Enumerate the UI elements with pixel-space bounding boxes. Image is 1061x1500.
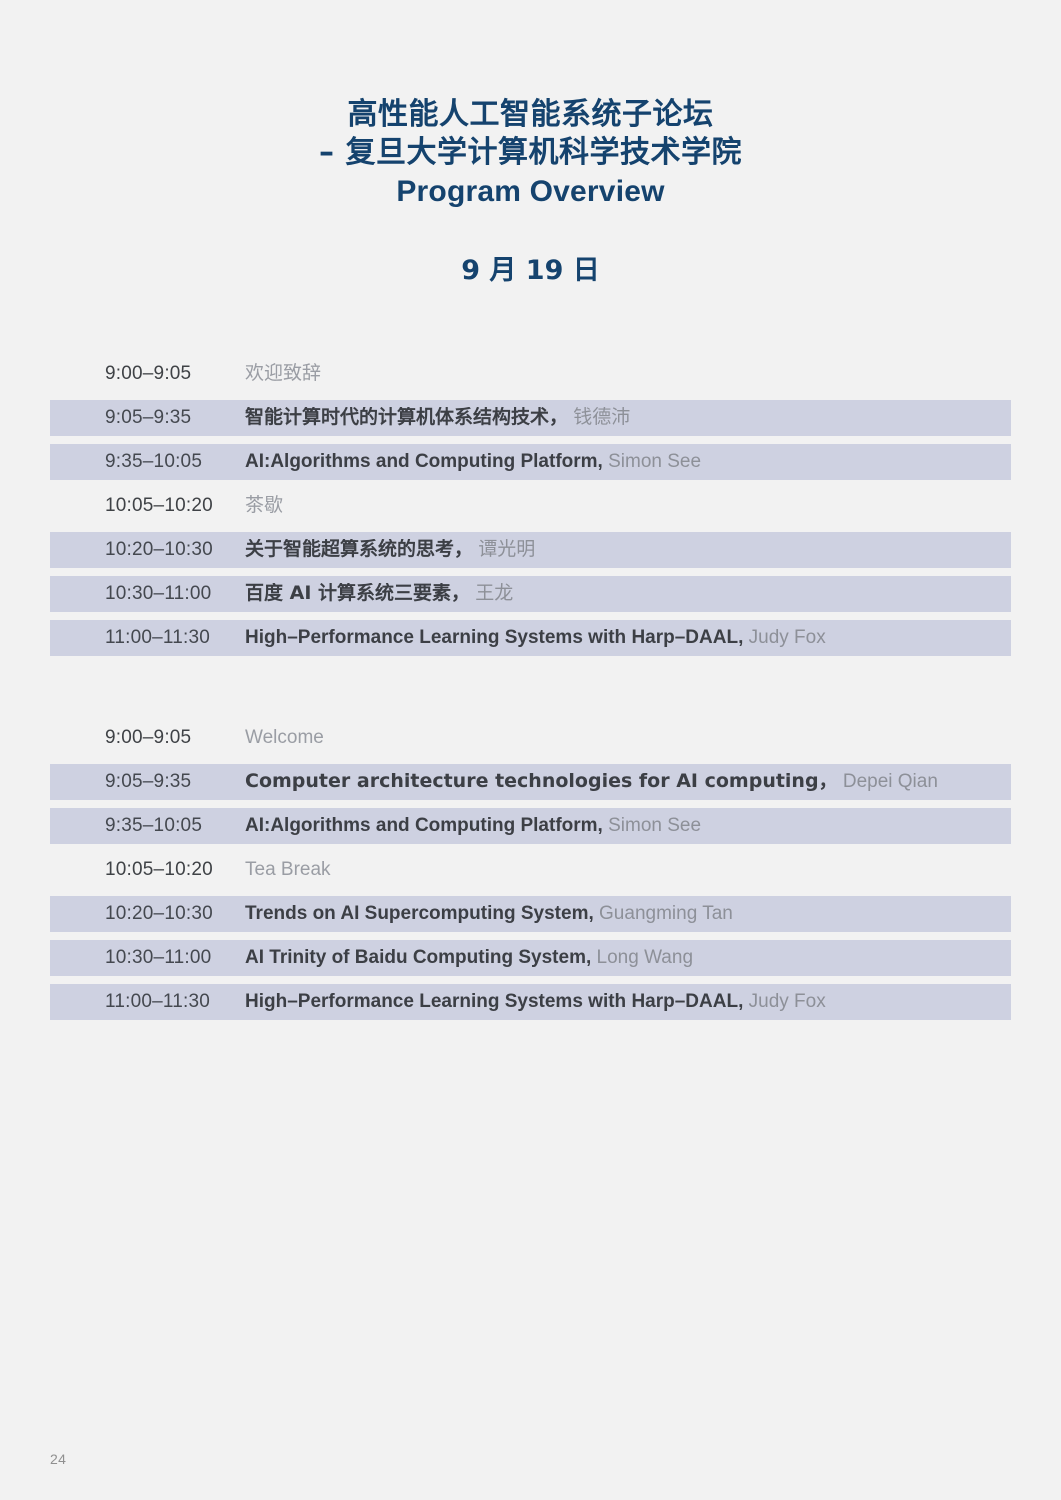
schedule-row: 10:20–10:30Trends on AI Supercomputing S… (50, 896, 1011, 932)
session-topic: 关于智能超算系统的思考， (245, 539, 473, 560)
session-time: 11:00–11:30 (50, 627, 245, 649)
session-topic: AI:Algorithms and Computing Platform, (245, 452, 603, 472)
session-time: 9:35–10:05 (50, 451, 245, 473)
session-speaker: Judy Fox (749, 992, 826, 1012)
session-label: 茶歇 (245, 495, 283, 516)
session-label: Tea Break (245, 860, 331, 880)
page-title: 高性能人工智能系统子论坛 – 复旦大学计算机科学技术学院 Program Ove… (0, 96, 1061, 211)
session-time: 11:00–11:30 (50, 991, 245, 1013)
session-entry: High–Performance Learning Systems with H… (245, 992, 1011, 1013)
schedule-row: 9:05–9:35Computer architecture technolog… (50, 764, 1011, 800)
session-time: 10:20–10:30 (50, 539, 245, 561)
schedule-row: 10:30–11:00AI Trinity of Baidu Computing… (50, 940, 1011, 976)
session-topic: 百度 AI 计算系统三要素， (245, 583, 470, 604)
session-entry: 茶歇 (245, 495, 1011, 517)
session-topic: Computer architecture technologies for A… (245, 771, 838, 792)
schedule-row: 9:35–10:05AI:Algorithms and Computing Pl… (50, 808, 1011, 844)
session-entry: 欢迎致辞 (245, 363, 1011, 385)
session-entry: 百度 AI 计算系统三要素， 王龙 (245, 583, 1011, 605)
title-line-program-overview: Program Overview (0, 173, 1061, 211)
schedule-row: 10:30–11:00百度 AI 计算系统三要素， 王龙 (50, 576, 1011, 612)
schedule-row: 11:00–11:30High–Performance Learning Sys… (50, 984, 1011, 1020)
session-speaker: 钱德沛 (573, 407, 630, 428)
schedule-row: 10:05–10:20Tea Break (50, 852, 1011, 888)
program-overview-page: 高性能人工智能系统子论坛 – 复旦大学计算机科学技术学院 Program Ove… (0, 0, 1061, 1500)
session-topic: High–Performance Learning Systems with H… (245, 628, 743, 648)
session-entry: AI:Algorithms and Computing Platform, Si… (245, 452, 1011, 473)
schedule-table-english: 9:00–9:05Welcome9:05–9:35Computer archit… (50, 720, 1011, 1028)
session-entry: AI Trinity of Baidu Computing System, Lo… (245, 948, 1011, 969)
session-label: Welcome (245, 728, 324, 748)
session-time: 10:05–10:20 (50, 859, 245, 881)
session-speaker: Guangming Tan (599, 904, 733, 924)
event-date: 9 月 19 日 (0, 248, 1061, 287)
session-topic: AI Trinity of Baidu Computing System, (245, 948, 591, 968)
session-entry: AI:Algorithms and Computing Platform, Si… (245, 816, 1011, 837)
schedule-row: 10:05–10:20茶歇 (50, 488, 1011, 524)
session-time: 9:05–9:35 (50, 771, 245, 793)
session-speaker: Judy Fox (749, 628, 826, 648)
session-speaker: Simon See (608, 452, 701, 472)
schedule-table-chinese: 9:00–9:05欢迎致辞9:05–9:35智能计算时代的计算机体系结构技术， … (50, 356, 1011, 664)
title-line-forum-name: 高性能人工智能系统子论坛 (0, 96, 1061, 134)
session-speaker: Depei Qian (843, 771, 938, 792)
session-time: 10:05–10:20 (50, 495, 245, 517)
title-line-organizer: – 复旦大学计算机科学技术学院 (0, 134, 1061, 172)
page-header: 高性能人工智能系统子论坛 – 复旦大学计算机科学技术学院 Program Ove… (0, 0, 1061, 287)
schedule-row: 9:00–9:05欢迎致辞 (50, 356, 1011, 392)
schedule-row: 10:20–10:30关于智能超算系统的思考， 谭光明 (50, 532, 1011, 568)
schedule-row: 9:00–9:05Welcome (50, 720, 1011, 756)
session-time: 9:35–10:05 (50, 815, 245, 837)
session-speaker: 谭光明 (478, 539, 535, 560)
session-entry: High–Performance Learning Systems with H… (245, 628, 1011, 649)
session-entry: Welcome (245, 728, 1011, 749)
schedule-row: 11:00–11:30High–Performance Learning Sys… (50, 620, 1011, 656)
session-topic: AI:Algorithms and Computing Platform, (245, 816, 603, 836)
session-time: 9:00–9:05 (50, 727, 245, 749)
session-entry: 关于智能超算系统的思考， 谭光明 (245, 539, 1011, 561)
session-entry: 智能计算时代的计算机体系结构技术， 钱德沛 (245, 407, 1011, 429)
schedule-row: 9:05–9:35智能计算时代的计算机体系结构技术， 钱德沛 (50, 400, 1011, 436)
session-speaker: Long Wang (597, 948, 693, 968)
session-time: 9:00–9:05 (50, 363, 245, 385)
page-number: 24 (50, 1451, 66, 1467)
session-time: 10:20–10:30 (50, 903, 245, 925)
session-speaker: 王龙 (475, 583, 513, 604)
session-topic: 智能计算时代的计算机体系结构技术， (245, 407, 568, 428)
session-entry: Tea Break (245, 860, 1011, 881)
schedule-row: 9:35–10:05AI:Algorithms and Computing Pl… (50, 444, 1011, 480)
session-entry: Trends on AI Supercomputing System, Guan… (245, 904, 1011, 925)
session-topic: High–Performance Learning Systems with H… (245, 992, 743, 1012)
session-time: 9:05–9:35 (50, 407, 245, 429)
session-entry: Computer architecture technologies for A… (245, 771, 1011, 793)
session-speaker: Simon See (608, 816, 701, 836)
session-topic: Trends on AI Supercomputing System, (245, 904, 594, 924)
session-time: 10:30–11:00 (50, 947, 245, 969)
session-time: 10:30–11:00 (50, 583, 245, 605)
session-label: 欢迎致辞 (245, 363, 321, 384)
